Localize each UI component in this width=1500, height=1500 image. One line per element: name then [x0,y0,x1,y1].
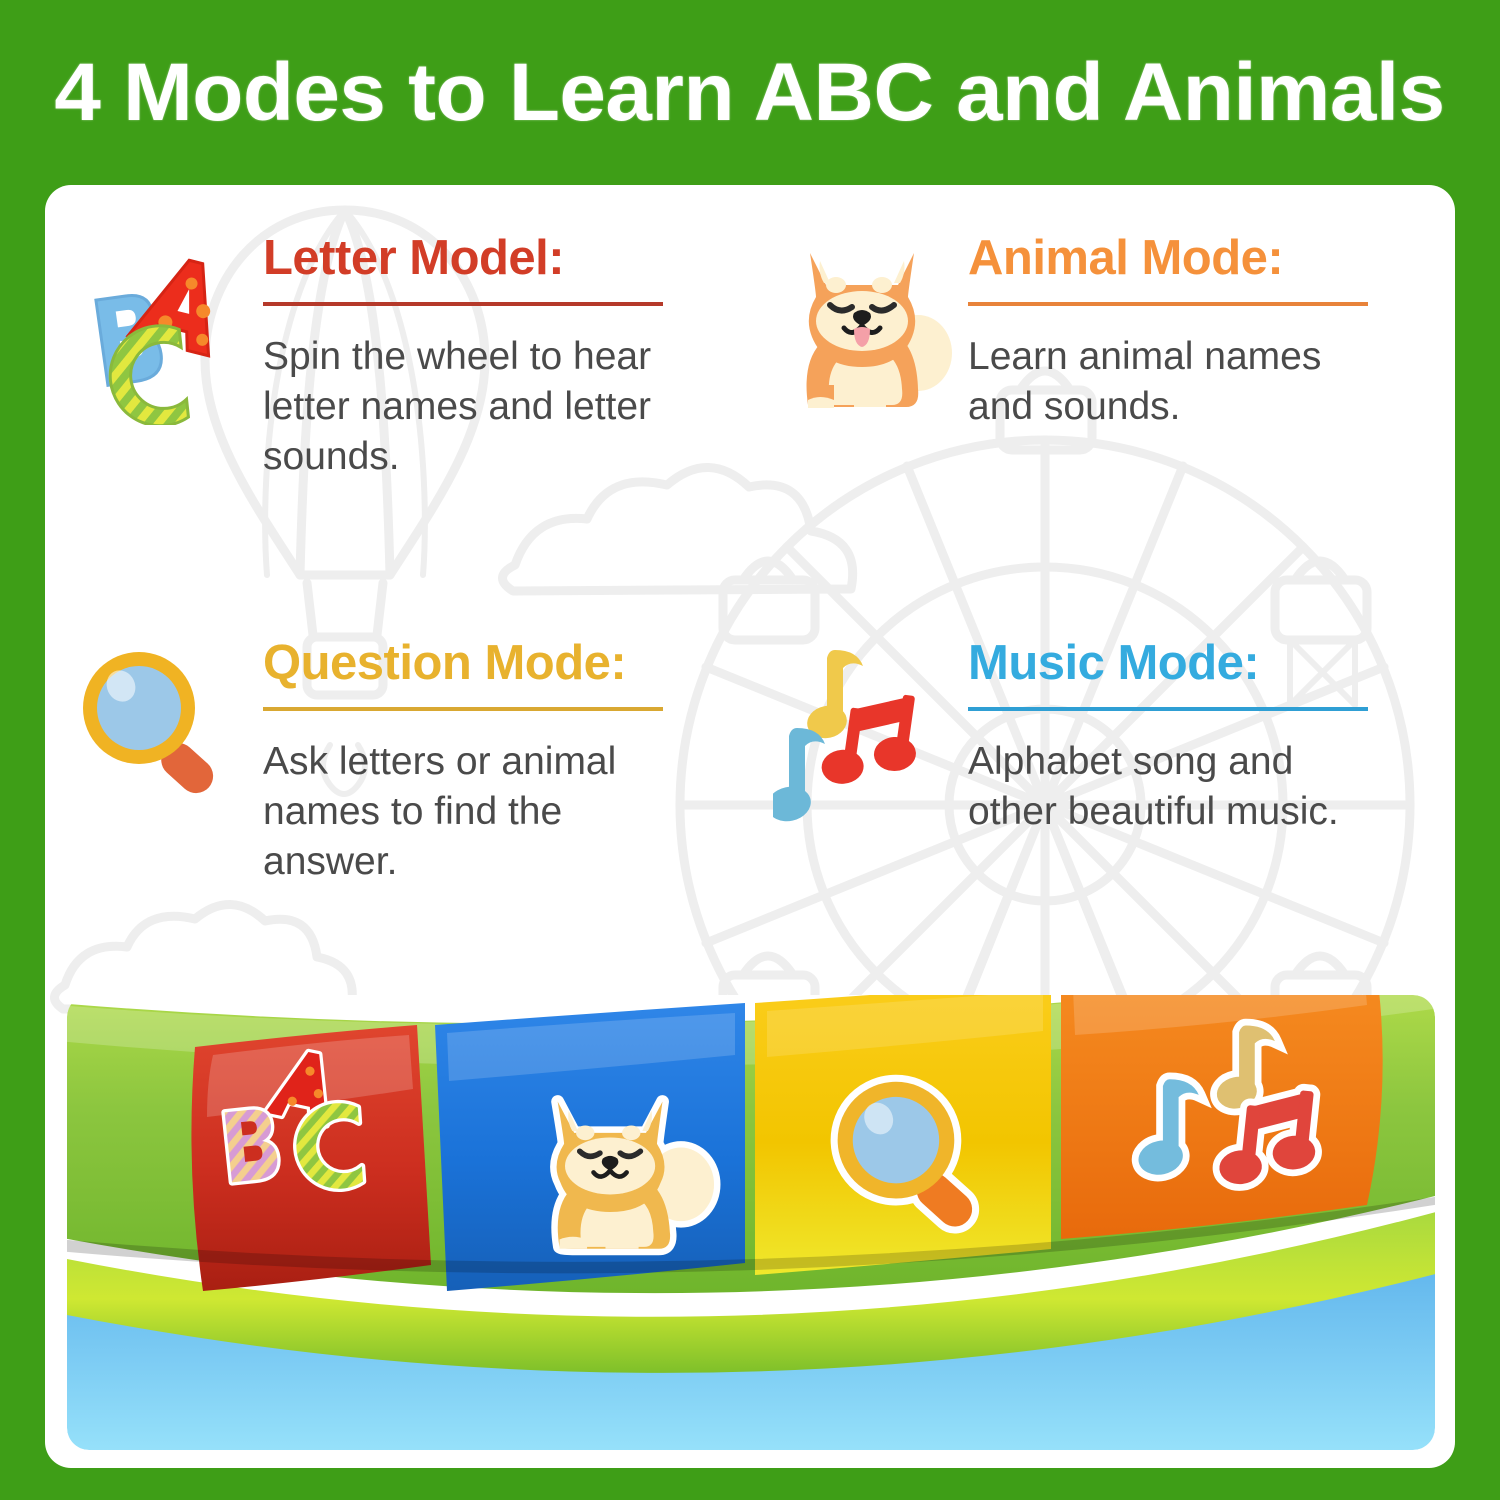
mode-description-music: Alphabet song and other beautiful music. [968,737,1388,837]
mode-description-animal: Learn animal names and sounds. [968,332,1388,432]
content-card: Letter Model: Spin the wheel to hear let… [45,185,1455,1468]
mode-card-animal: Animal Mode: Learn animal names and soun… [750,185,1455,590]
mode-title-letter: Letter Model: [263,233,722,284]
mode-card-question: Question Mode: Ask letters or animal nam… [45,590,750,995]
button-animal [435,1003,745,1291]
mode-description-question: Ask letters or animal names to find the … [263,737,683,887]
shiba-dog-icon [768,225,968,425]
mode-title-question: Question Mode: [263,638,722,689]
page-header: 4 Modes to Learn ABC and Animals [0,0,1500,185]
mode-rule-letter [263,302,663,306]
magnifier-icon [63,630,263,830]
page-title: 4 Modes to Learn ABC and Animals [55,52,1445,134]
product-photo [67,995,1435,1450]
button-abc [191,1025,431,1291]
mode-rule-question [263,707,663,711]
mode-card-letter: Letter Model: Spin the wheel to hear let… [45,185,750,590]
button-question [755,995,1051,1275]
modes-grid: Letter Model: Spin the wheel to hear let… [45,185,1455,995]
music-notes-icon [768,630,968,830]
mode-text-letter: Letter Model: Spin the wheel to hear let… [263,225,722,482]
mode-title-music: Music Mode: [968,638,1427,689]
mode-rule-music [968,707,1368,711]
mode-text-music: Music Mode: Alphabet song and other beau… [968,630,1427,985]
abc-letters-icon [63,225,263,425]
mode-text-question: Question Mode: Ask letters or animal nam… [263,630,722,985]
mode-card-music: Music Mode: Alphabet song and other beau… [750,590,1455,995]
mode-title-animal: Animal Mode: [968,233,1427,284]
mode-description-letter: Spin the wheel to hear letter names and … [263,332,683,482]
button-music [1061,995,1383,1239]
mode-rule-animal [968,302,1368,306]
mode-text-animal: Animal Mode: Learn animal names and soun… [968,225,1427,432]
